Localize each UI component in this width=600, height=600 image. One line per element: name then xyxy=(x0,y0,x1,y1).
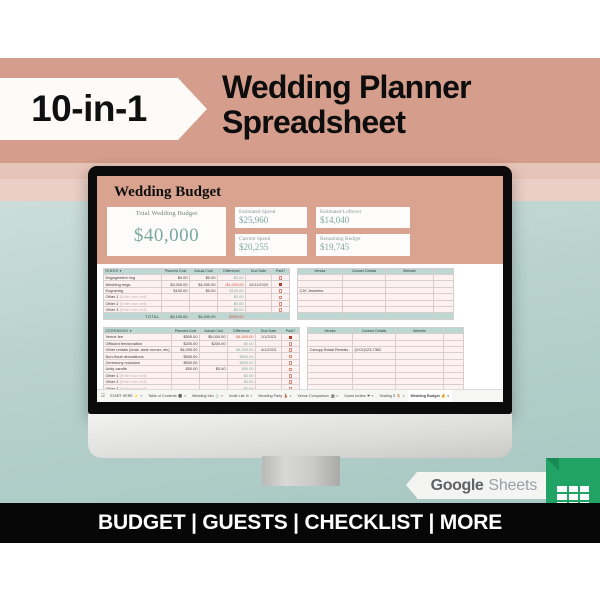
sheet-tab-emoji-icon: ✉ xyxy=(246,394,249,398)
vt2 xyxy=(343,313,386,319)
chevron-down-icon[interactable]: ▾ xyxy=(221,394,223,398)
total-budget-card: Total Wedding Budget $40,000 xyxy=(107,207,226,256)
total-planned: $3,100.00 xyxy=(162,313,190,319)
sheet-tab[interactable]: Venue Comparison🏛▾ xyxy=(294,390,341,403)
budget-header-panel: Wedding Budget Total Wedding Budget $40,… xyxy=(97,176,503,264)
budget-blocks: RINGS ▾Planned CostActual CostDifference… xyxy=(97,268,503,398)
sheet-tab-label: Seating S xyxy=(379,394,395,398)
total-label: TOTAL xyxy=(104,313,162,319)
chevron-down-icon[interactable]: ▾ xyxy=(140,394,142,398)
paid-checkbox[interactable] xyxy=(279,276,283,280)
sheet-tab-emoji-icon: 📓 xyxy=(178,394,182,398)
remaining-budget-card: Remaining Budget $19,745 xyxy=(316,234,410,255)
paid-checkbox[interactable] xyxy=(289,380,293,384)
monitor-bezel: Wedding Budget Total Wedding Budget $40,… xyxy=(88,166,512,414)
paid-checkbox[interactable] xyxy=(289,374,293,378)
cost-table[interactable]: CEREMONY ▾Planned CostActual CostDiffere… xyxy=(103,327,300,398)
sheet-tab-label: Venue Comparison xyxy=(297,394,328,398)
budget-block: CEREMONY ▾Planned CostActual CostDiffere… xyxy=(97,327,503,398)
footer-text: BUDGET | GUESTS | CHECKLIST | MORE xyxy=(98,511,502,535)
paid-checkbox[interactable] xyxy=(289,361,293,365)
budget-block: RINGS ▾Planned CostActual CostDifference… xyxy=(97,268,503,320)
sheet-tab-label: Wedding Info xyxy=(192,394,214,398)
sheet-tab-emoji-icon: ❤ xyxy=(367,394,370,398)
total-budget-label: Total Wedding Budget xyxy=(111,210,222,217)
paid-checkbox[interactable] xyxy=(279,283,283,287)
chevron-down-icon[interactable]: ▾ xyxy=(250,394,252,398)
paid-checkbox[interactable] xyxy=(289,336,293,340)
sheet-tab[interactable]: Table of Contents📓▾ xyxy=(145,390,189,403)
due-date-cell[interactable]: 10/11/2020 xyxy=(246,281,272,287)
footer-bar: BUDGET | GUESTS | CHECKLIST | MORE xyxy=(0,503,600,543)
google-sheets-lockup: Google Sheets xyxy=(417,472,547,499)
vt1 xyxy=(298,313,343,319)
vendor-total-row xyxy=(298,313,454,319)
current-spend-value: $20,255 xyxy=(239,242,303,252)
vt4 xyxy=(434,313,454,319)
sheet-tab-bar[interactable]: ☰ START HERE✨▾Table of Contents📓▾Wedding… xyxy=(97,389,503,402)
sheet-tab-label: START HERE xyxy=(110,394,133,398)
listing-image: 10-in-1 Wedding Planner Spreadsheet Wedd… xyxy=(0,0,600,600)
sheet-tab[interactable]: Seating S🪑▾ xyxy=(376,390,407,403)
sheets-wordmark: Sheets xyxy=(488,477,537,495)
chevron-down-icon[interactable]: ▾ xyxy=(403,394,405,398)
sheet-tab[interactable]: START HERE✨▾ xyxy=(107,390,145,403)
vendor-table[interactable]: VendorContact DetailsWebsiteCJK Jewelers xyxy=(297,268,454,320)
estimated-leftover-card: Estimated Leftover $14,040 xyxy=(316,207,410,228)
count-badge-label: 10-in-1 xyxy=(31,88,147,130)
sheet-tab-label: Guest Invites xyxy=(344,394,366,398)
grid-area: RINGS ▾Planned CostActual CostDifference… xyxy=(97,264,503,398)
sheet-tab-label: Wedding Budget xyxy=(411,394,440,398)
total-actual: $4,000.00 xyxy=(190,313,218,319)
all-sheets-icon[interactable]: ☰ xyxy=(99,393,107,399)
sheet-tab[interactable]: Invite List✉▾ xyxy=(226,390,255,403)
chevron-down-icon[interactable]: ▾ xyxy=(447,394,449,398)
total-row: TOTAL$3,100.00$4,000.00-$900.00 xyxy=(104,313,290,319)
sheet-tab-emoji-icon: 🪑 xyxy=(397,394,401,398)
total-difference: -$900.00 xyxy=(218,313,246,319)
sheet-tab-emoji-icon: 💃 xyxy=(284,394,288,398)
leftover-cards-column: Estimated Leftover $14,040 Remaining Bud… xyxy=(316,207,410,256)
paid-checkbox[interactable] xyxy=(279,296,283,300)
sheet-tab-emoji-icon: 🏛 xyxy=(330,394,335,398)
vendor-table[interactable]: VendorContact DetailsWebsiteCanopy Brida… xyxy=(307,327,464,398)
estimated-spend-value: $25,960 xyxy=(239,215,303,225)
estimated-leftover-value: $14,040 xyxy=(320,215,406,225)
estimated-spend-card: Estimated Spend $25,960 xyxy=(235,207,307,228)
sheet-tab-label: Wedding Party xyxy=(258,394,282,398)
vendor-name-cell[interactable]: Canopy Bridal Rentals xyxy=(308,346,353,352)
count-badge: 10-in-1 xyxy=(0,78,178,140)
sheet-tab-label: Table of Contents xyxy=(148,394,177,398)
sheet-tabs[interactable]: START HERE✨▾Table of Contents📓▾Wedding I… xyxy=(107,390,452,403)
sheet-tab-emoji-icon: 💍 xyxy=(215,394,219,398)
sheet-title: Wedding Budget xyxy=(114,184,493,201)
total-paid-spacer xyxy=(272,313,290,319)
sheet-tab-label: Invite List xyxy=(229,394,245,398)
paid-checkbox[interactable] xyxy=(289,348,293,352)
total-budget-value: $40,000 xyxy=(111,225,222,247)
paid-checkbox[interactable] xyxy=(289,342,293,346)
paid-checkbox[interactable] xyxy=(289,355,293,359)
paid-checkbox[interactable] xyxy=(279,302,283,306)
spreadsheet-screen: Wedding Budget Total Wedding Budget $40,… xyxy=(97,176,503,402)
chevron-down-icon[interactable]: ▾ xyxy=(290,394,292,398)
sheet-tab-emoji-icon: 💰 xyxy=(441,394,445,398)
chevron-down-icon[interactable]: ▾ xyxy=(336,394,338,398)
page-title-line2: Spreadsheet xyxy=(222,105,594,140)
paid-checkbox[interactable] xyxy=(279,289,283,293)
sheet-tab[interactable]: Wedding Budget💰▾ xyxy=(408,390,452,403)
monitor-stand xyxy=(262,456,340,486)
spend-cards-column: Estimated Spend $25,960 Current Spend $2… xyxy=(235,207,307,256)
sheet-tab[interactable]: Wedding Info💍▾ xyxy=(189,390,226,403)
current-spend-card: Current Spend $20,255 xyxy=(235,234,307,255)
chevron-down-icon[interactable]: ▾ xyxy=(372,394,374,398)
sheet-tab[interactable]: Wedding Party💃▾ xyxy=(255,390,294,403)
paid-checkbox[interactable] xyxy=(279,308,283,312)
summary-cards: Total Wedding Budget $40,000 Estimated S… xyxy=(107,207,493,256)
google-wordmark: Google xyxy=(431,477,484,495)
sheet-tab[interactable]: Guest Invites❤▾ xyxy=(341,390,376,403)
sheet-tab-emoji-icon: ✨ xyxy=(134,394,138,398)
monitor-chin xyxy=(88,414,512,458)
row-label[interactable]: Other rentals (chair, aisle runner, etc) xyxy=(104,346,172,352)
chevron-down-icon[interactable]: ▾ xyxy=(184,394,186,398)
cost-table[interactable]: RINGS ▾Planned CostActual CostDifference… xyxy=(103,268,290,320)
paid-checkbox[interactable] xyxy=(289,368,293,372)
page-title-line1: Wedding Planner xyxy=(222,70,594,105)
remaining-budget-value: $19,745 xyxy=(320,242,406,252)
vt3 xyxy=(386,313,434,319)
page-title: Wedding Planner Spreadsheet xyxy=(222,70,594,139)
total-due-spacer xyxy=(246,313,272,319)
